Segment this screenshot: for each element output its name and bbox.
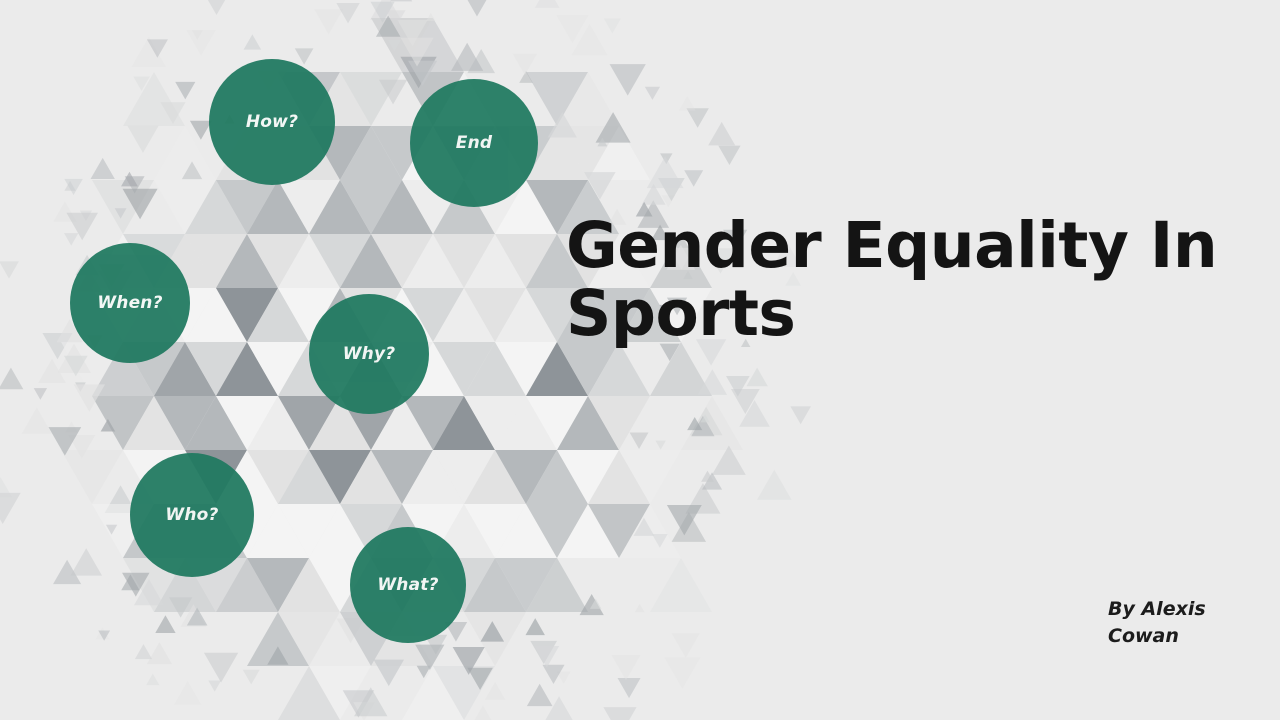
node-who[interactable]: Who?: [130, 453, 254, 577]
node-when[interactable]: When?: [70, 243, 190, 363]
page-title: Gender Equality In Sports: [566, 212, 1226, 348]
title-block: Gender Equality In Sports: [566, 212, 1226, 348]
node-end-label: End: [456, 133, 492, 153]
author-byline: By Alexis Cowan: [1108, 596, 1248, 650]
node-how-label: How?: [246, 112, 298, 132]
title-slide: How? End When? Why? Who? What? Gender Eq…: [0, 0, 1280, 720]
node-who-label: Who?: [165, 505, 218, 525]
node-why[interactable]: Why?: [309, 294, 429, 414]
node-end[interactable]: End: [410, 79, 538, 207]
node-what-label: What?: [377, 575, 438, 595]
node-what[interactable]: What?: [350, 527, 466, 643]
triangle-mosaic-background: [0, 0, 1280, 720]
node-when-label: When?: [97, 293, 162, 313]
node-how[interactable]: How?: [209, 59, 335, 185]
node-why-label: Why?: [343, 344, 396, 364]
